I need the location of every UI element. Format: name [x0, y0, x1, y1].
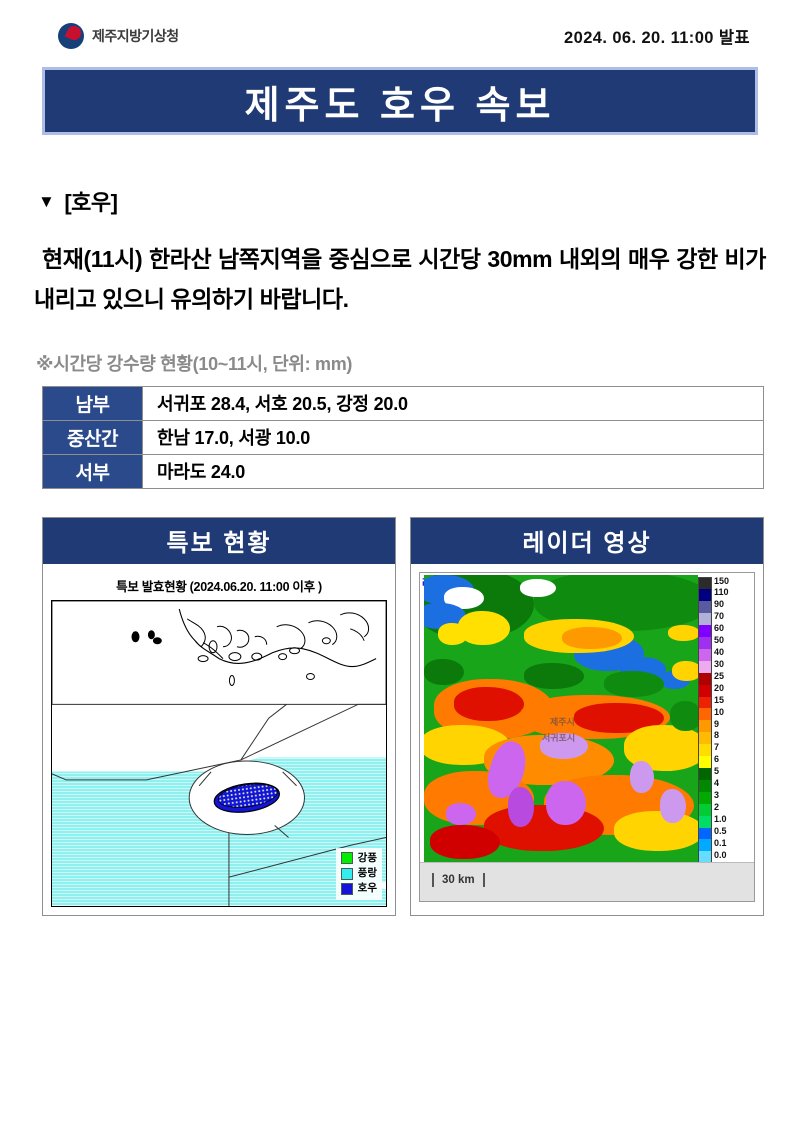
echo-blob: [424, 659, 464, 685]
radar-colorbar: [698, 577, 712, 865]
legend-swatch-cyan: [341, 868, 353, 880]
map-caption: 특보 발효현황 (2024.06.20. 11:00 이후 ): [51, 572, 387, 600]
rainfall-note: ※시간당 강수량 현황(10~11시, 단위: mm): [36, 350, 770, 376]
colorbar-tick-label: 2: [714, 803, 719, 812]
legend-swatch-green: [341, 852, 353, 864]
taegeuk-icon: [58, 23, 84, 49]
table-row: 중산간 한남 17.0, 서광 10.0: [43, 420, 764, 454]
map-legend: 강풍 풍랑 호우: [336, 848, 382, 900]
echo-blob: [668, 625, 698, 641]
panels-row: 특보 현황 특보 발효현황 (2024.06.20. 11:00 이후 ): [42, 517, 758, 916]
colorbar-cell: [699, 744, 711, 756]
radar-panel-title: 레이더 영상: [411, 518, 763, 564]
echo-blob: [672, 661, 698, 681]
legend-item-strong-wind: 강풍: [341, 851, 377, 866]
echo-blob: [524, 663, 584, 689]
colorbar-tick-label: 7: [714, 743, 719, 752]
region-values: 한남 17.0, 서광 10.0: [143, 420, 764, 454]
region-label: 남부: [43, 386, 143, 420]
colorbar-cell: [699, 625, 711, 637]
colorbar-cell: [699, 685, 711, 697]
echo-blob: [446, 803, 476, 825]
colorbar-tick-label: 40: [714, 648, 724, 657]
colorbar-tick-label: 25: [714, 672, 724, 681]
colorbar-tick-label: 0.0: [714, 851, 727, 860]
colorbar-cell: [699, 732, 711, 744]
legend-item-heavy-rain: 호우: [341, 881, 377, 896]
echo-blob: [630, 761, 654, 793]
city-label-jeju: 제주시: [550, 715, 575, 728]
echo-blob: [430, 825, 500, 859]
echo-blob: [660, 789, 686, 823]
colorbar-tick-label: 60: [714, 624, 724, 633]
scale-bar: 30 km: [432, 873, 485, 887]
title-banner: 제주도 호우 속보: [42, 67, 758, 135]
colorbar-tick-label: 150: [714, 577, 729, 586]
section-heading-label: [호우]: [64, 185, 117, 217]
colorbar-tick-label: 5: [714, 767, 719, 776]
echo-blob: [546, 781, 586, 825]
radar-echo-canvas: 제주시 서귀포시: [424, 575, 698, 863]
table-row: 남부 서귀포 28.4, 서호 20.5, 강정 20.0: [43, 386, 764, 420]
table-row: 서부 마라도 24.0: [43, 454, 764, 488]
agency-name: 제주지방기상청: [92, 26, 179, 46]
region-values: 서귀포 28.4, 서호 20.5, 강정 20.0: [143, 386, 764, 420]
region-values: 마라도 24.0: [143, 454, 764, 488]
echo-blob: [614, 811, 698, 851]
radar-footer: 30 km: [420, 862, 754, 901]
region-label: 중산간: [43, 420, 143, 454]
colorbar-cell: [699, 578, 711, 590]
colorbar-tick-label: 90: [714, 600, 724, 609]
colorbar-tick-label: 3: [714, 791, 719, 800]
colorbar-cell: [699, 589, 711, 601]
colorbar-cell: [699, 649, 711, 661]
colorbar-tick-label: 1.0: [714, 815, 727, 824]
colorbar-cell: [699, 637, 711, 649]
colorbar-tick-label: 20: [714, 684, 724, 693]
colorbar-tick-label: 4: [714, 779, 719, 788]
colorbar-cell: [699, 720, 711, 732]
warning-map: 강풍 풍랑 호우: [51, 600, 387, 907]
colorbar-cell: [699, 792, 711, 804]
warning-panel-body: 특보 발효현황 (2024.06.20. 11:00 이후 ): [43, 564, 395, 915]
colorbar-cell: [699, 708, 711, 720]
echo-blob: [454, 687, 524, 721]
legend-label: 강풍: [358, 851, 377, 866]
colorbar-cell: [699, 673, 711, 685]
page-title: 제주도 호우 속보: [245, 74, 556, 129]
legend-swatch-blue: [341, 883, 353, 895]
colorbar-cell: [699, 613, 711, 625]
city-label-seogwipo: 서귀포시: [542, 731, 575, 744]
radar-panel: 레이더 영상 레이더 HSR 2024.06.20.11:00 (mm/h) #…: [410, 517, 764, 916]
colorbar-cell: [699, 601, 711, 613]
echo-blob: [520, 579, 556, 597]
radar-image: 레이더 HSR 2024.06.20.11:00 (mm/h) #12: [419, 572, 755, 902]
colorbar-cell: [699, 697, 711, 709]
legend-item-high-seas: 풍랑: [341, 866, 377, 881]
triangle-bullet-icon: ▼: [38, 193, 54, 210]
colorbar-tick-label: 8: [714, 731, 719, 740]
rainfall-table-body: 남부 서귀포 28.4, 서호 20.5, 강정 20.0 중산간 한남 17.…: [43, 386, 764, 488]
echo-blob: [484, 805, 604, 851]
colorbar-cell: [699, 828, 711, 840]
echo-blob: [604, 671, 664, 697]
echo-blob: [670, 701, 698, 731]
warning-status-panel: 특보 현황 특보 발효현황 (2024.06.20. 11:00 이후 ): [42, 517, 396, 916]
warning-panel-title: 특보 현황: [43, 518, 395, 564]
legend-label: 호우: [358, 881, 377, 896]
legend-label: 풍랑: [358, 866, 377, 881]
colorbar-tick-label: 0.5: [714, 827, 727, 836]
colorbar-tick-label: 70: [714, 612, 724, 621]
rainfall-table: 남부 서귀포 28.4, 서호 20.5, 강정 20.0 중산간 한남 17.…: [42, 386, 764, 489]
colorbar-tick-label: 15: [714, 696, 724, 705]
colorbar-tick-label: 6: [714, 755, 719, 764]
bulletin-page: 제주지방기상청 2024. 06. 20. 11:00 발표 제주도 호우 속보…: [0, 0, 800, 1132]
page-header: 제주지방기상청 2024. 06. 20. 11:00 발표: [30, 0, 770, 58]
colorbar-cell: [699, 661, 711, 673]
echo-blob: [508, 787, 534, 827]
radar-colorbar-labels: 15011090706050403025201510987654321.00.5…: [714, 577, 748, 865]
echo-blob: [562, 627, 622, 649]
colorbar-cell: [699, 768, 711, 780]
colorbar-cell: [699, 804, 711, 816]
issue-timestamp: 2024. 06. 20. 11:00 발표: [564, 24, 750, 48]
advisory-body-text: 현재(11시) 한라산 남쪽지역을 중심으로 시간당 30mm 내외의 매우 강…: [34, 239, 766, 320]
radar-panel-body: 레이더 HSR 2024.06.20.11:00 (mm/h) #12: [411, 564, 763, 910]
colorbar-cell: [699, 756, 711, 768]
colorbar-cell: [699, 839, 711, 851]
colorbar-tick-label: 50: [714, 636, 724, 645]
colorbar-cell: [699, 816, 711, 828]
region-label: 서부: [43, 454, 143, 488]
colorbar-tick-label: 10: [714, 708, 724, 717]
agency-brand: 제주지방기상청: [58, 23, 179, 49]
section-heading: ▼ [호우]: [38, 185, 770, 217]
echo-blob: [438, 623, 468, 645]
colorbar-tick-label: 30: [714, 660, 724, 669]
colorbar-tick-label: 9: [714, 720, 719, 729]
colorbar-cell: [699, 780, 711, 792]
colorbar-tick-label: 0.1: [714, 839, 727, 848]
colorbar-tick-label: 110: [714, 588, 729, 597]
